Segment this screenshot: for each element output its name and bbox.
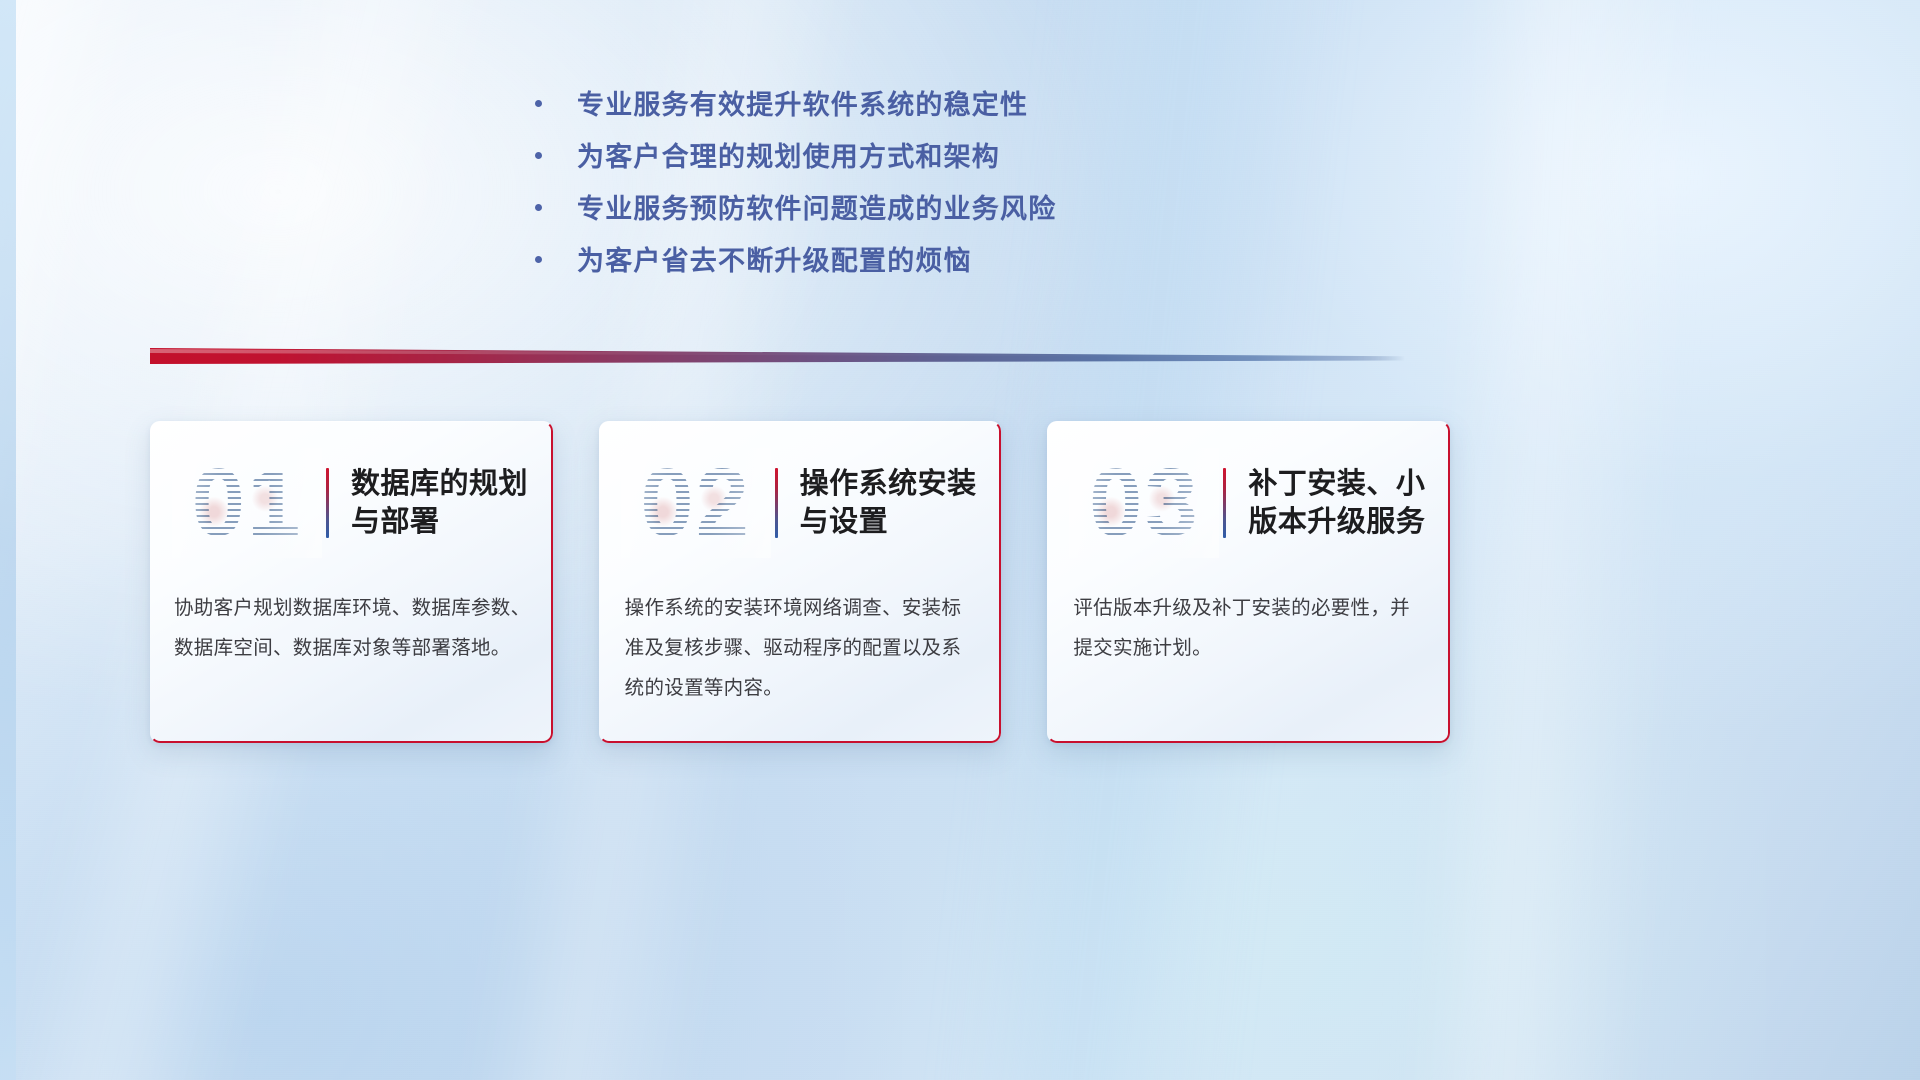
card-description: 协助客户规划数据库环境、数据库参数、数据库空间、数据库对象等部署落地。 (174, 589, 531, 669)
card-top-sheen (1047, 421, 1450, 422)
card-header: 03 补丁安装、小版本升级服务 (1047, 437, 1450, 569)
benefits-bullet-list: 专业服务有效提升软件系统的稳定性 为客户合理的规划使用方式和架构 专业服务预防软… (535, 92, 1235, 300)
list-item: 专业服务预防软件问题造成的业务风险 (535, 196, 1235, 248)
card-title: 操作系统安装与设置 (800, 465, 1002, 542)
list-item: 为客户合理的规划使用方式和架构 (535, 144, 1235, 196)
service-card[interactable]: 01 数据库的规划与部署 协助客户规划数据库环境、数据库参数、数据库空间、数据库… (150, 421, 553, 743)
card-number-badge: 03 (1069, 448, 1219, 558)
card-number: 01 (192, 455, 303, 551)
section-divider (150, 348, 1405, 364)
card-description: 操作系统的安装环境网络调查、安装标准及复核步骤、驱动程序的配置以及系统的设置等内… (625, 589, 980, 709)
bullet-point-icon (535, 100, 542, 107)
bullet-point-icon (535, 204, 542, 211)
card-title-divider-bar (775, 468, 778, 538)
card-number: 03 (1089, 455, 1200, 551)
bullet-text: 专业服务预防软件问题造成的业务风险 (577, 196, 1056, 223)
service-card[interactable]: 02 操作系统安装与设置 操作系统的安装环境网络调查、安装标准及复核步骤、驱动程… (599, 421, 1002, 743)
bullet-text: 为客户省去不断升级配置的烦恼 (577, 248, 972, 275)
card-title: 补丁安装、小版本升级服务 (1248, 465, 1450, 542)
list-item: 为客户省去不断升级配置的烦恼 (535, 248, 1235, 300)
card-title-divider-bar (1223, 468, 1226, 538)
service-card[interactable]: 03 补丁安装、小版本升级服务 评估版本升级及补丁安装的必要性，并提交实施计划。 (1047, 421, 1450, 743)
bullet-point-icon (535, 256, 542, 263)
bullet-text: 专业服务有效提升软件系统的稳定性 (577, 92, 1028, 119)
bullet-text: 为客户合理的规划使用方式和架构 (577, 144, 1000, 171)
card-top-sheen (599, 421, 1002, 422)
card-number-badge: 02 (621, 448, 771, 558)
card-title-divider-bar (326, 468, 329, 538)
card-number-badge: 01 (172, 448, 322, 558)
background-left-edge-band (0, 0, 16, 1080)
card-title: 数据库的规划与部署 (351, 465, 553, 542)
card-header: 02 操作系统安装与设置 (599, 437, 1002, 569)
card-header: 01 数据库的规划与部署 (150, 437, 553, 569)
card-top-sheen (150, 421, 553, 422)
card-description: 评估版本升级及补丁安装的必要性，并提交实施计划。 (1073, 589, 1428, 669)
service-card-group: 01 数据库的规划与部署 协助客户规划数据库环境、数据库参数、数据库空间、数据库… (150, 421, 1450, 743)
bullet-point-icon (535, 152, 542, 159)
card-number: 02 (640, 455, 751, 551)
list-item: 专业服务有效提升软件系统的稳定性 (535, 92, 1235, 144)
